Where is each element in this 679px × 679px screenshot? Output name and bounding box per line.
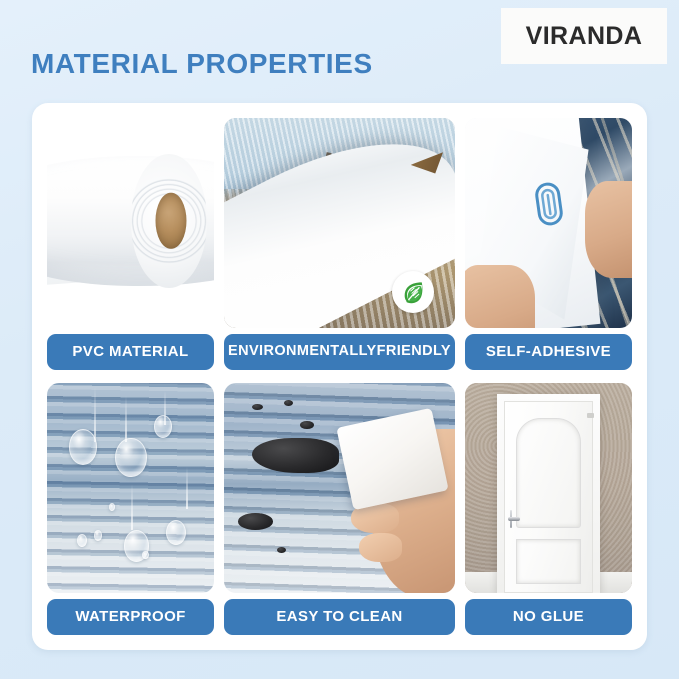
feature-card-self-adhesive[interactable]: SELF-ADHESIVE bbox=[465, 118, 632, 370]
water-trail bbox=[125, 396, 127, 442]
door-frame bbox=[497, 394, 601, 594]
door-handle-bar bbox=[508, 517, 520, 521]
feature-card-easy-to-clean[interactable]: EASY TO CLEAN bbox=[224, 383, 455, 635]
water-droplet bbox=[166, 520, 186, 545]
feature-label-waterproof: WATERPROOF bbox=[47, 599, 214, 635]
water-droplet bbox=[69, 429, 97, 465]
feature-label-no-glue: NO GLUE bbox=[465, 599, 632, 635]
brand-logo: VIRANDA bbox=[501, 8, 667, 64]
water-droplet bbox=[154, 415, 172, 438]
left-hand bbox=[465, 265, 535, 328]
feature-card-pvc-material[interactable]: PVC MATERIAL bbox=[47, 118, 214, 370]
stain-mark bbox=[300, 421, 314, 429]
brand-logo-text: VIRANDA bbox=[526, 22, 643, 51]
peeling-wallpaper-image bbox=[224, 118, 455, 328]
page-header: MATERIAL PROPERTIES VIRANDA bbox=[0, 0, 679, 103]
white-door-image bbox=[465, 383, 632, 593]
feature-label-pvc-material: PVC MATERIAL bbox=[47, 334, 214, 370]
finger bbox=[359, 533, 401, 562]
feature-label-line1: ENVIRONMENTALLY bbox=[228, 344, 377, 359]
door-handle-icon bbox=[508, 510, 520, 527]
stain-mark bbox=[277, 547, 286, 553]
pvc-roll-core bbox=[155, 193, 186, 249]
pvc-roll-end bbox=[131, 154, 208, 288]
page-title: MATERIAL PROPERTIES bbox=[31, 48, 373, 80]
door-hinge bbox=[587, 413, 594, 418]
features-grid: PVC MATERIAL bbox=[47, 118, 632, 635]
hand-wiping-stains-image bbox=[224, 383, 455, 593]
feature-card-no-glue[interactable]: NO GLUE bbox=[465, 383, 632, 635]
water-droplet bbox=[109, 503, 116, 511]
water-droplet bbox=[115, 438, 147, 478]
door-upper-panel bbox=[516, 418, 580, 528]
water-trail bbox=[186, 467, 188, 509]
water-trail bbox=[94, 387, 96, 442]
water-droplet bbox=[94, 530, 102, 541]
feature-label-environmentally-friendly: ENVIRONMENTALLY FRIENDLY bbox=[224, 334, 455, 370]
feature-label-line2: FRIENDLY bbox=[377, 344, 451, 359]
features-panel: PVC MATERIAL bbox=[32, 103, 647, 650]
pvc-roll-image bbox=[47, 118, 214, 328]
hands-peeling-sheet-image bbox=[465, 118, 632, 328]
feature-card-waterproof[interactable]: WATERPROOF bbox=[47, 383, 214, 635]
door-leaf bbox=[504, 401, 593, 593]
feature-label-self-adhesive: SELF-ADHESIVE bbox=[465, 334, 632, 370]
water-droplets-image bbox=[47, 383, 214, 593]
stain-mark bbox=[252, 404, 264, 410]
stain-mark bbox=[284, 400, 293, 406]
stain-mark bbox=[238, 513, 273, 530]
water-droplet bbox=[142, 551, 149, 559]
stain-mark bbox=[252, 438, 340, 474]
right-hand bbox=[585, 181, 632, 278]
door-lower-panel bbox=[516, 539, 580, 584]
water-droplet bbox=[77, 534, 87, 547]
feature-label-easy-to-clean: EASY TO CLEAN bbox=[224, 599, 455, 635]
feature-card-environmentally-friendly[interactable]: ENVIRONMENTALLY FRIENDLY bbox=[224, 118, 455, 370]
water-trail bbox=[131, 484, 133, 530]
